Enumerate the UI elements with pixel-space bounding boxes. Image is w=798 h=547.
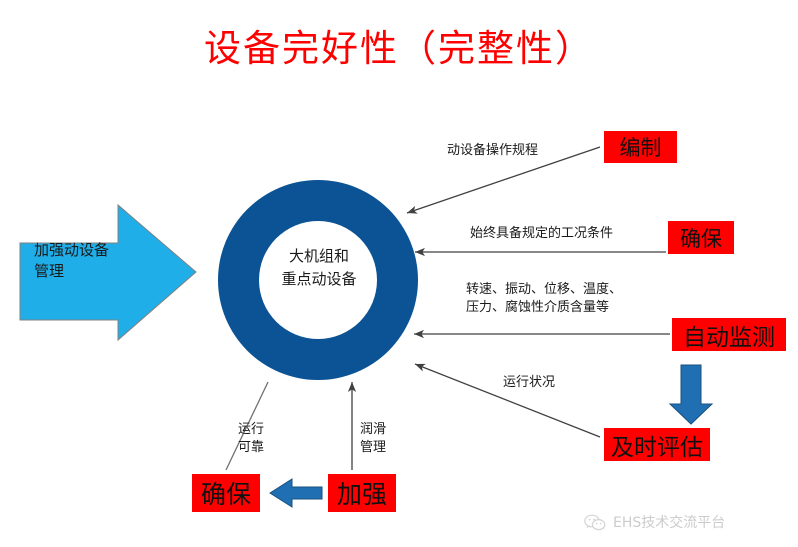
- label-condition: 始终具备规定的工况条件: [470, 225, 613, 243]
- action-box-compile[interactable]: 编制: [604, 131, 677, 163]
- slide-canvas: 设备完好性（完整性）: [0, 0, 798, 547]
- label-reliability: 运行 可靠: [228, 421, 274, 457]
- left-arrow-shape: [270, 479, 322, 507]
- input-arrow-label: 加强动设备 管理: [34, 240, 174, 282]
- label-lubrication: 润滑 管理: [356, 421, 390, 457]
- label-parameters: 转速、振动、位移、温度、 压力、腐蚀性介质含量等: [466, 281, 622, 317]
- action-box-strengthen-lubrication[interactable]: 加强: [328, 474, 396, 512]
- action-box-auto-monitor[interactable]: 自动监测: [672, 318, 786, 351]
- label-status: 运行状况: [503, 374, 555, 392]
- down-arrow-shape: [670, 365, 712, 424]
- label-procedure: 动设备操作规程: [447, 142, 538, 160]
- page-title: 设备完好性（完整性）: [0, 18, 798, 72]
- footer-text: EHS技术交流平台: [613, 512, 725, 532]
- action-box-ensure-reliability[interactable]: 确保: [192, 474, 260, 512]
- donut-center-label: 大机组和 重点动设备: [248, 245, 390, 291]
- wechat-icon: [584, 514, 606, 531]
- action-box-ensure-condition[interactable]: 确保: [668, 221, 734, 254]
- footer-watermark: EHS技术交流平台: [584, 512, 725, 532]
- action-box-timely-evaluate[interactable]: 及时评估: [604, 428, 710, 461]
